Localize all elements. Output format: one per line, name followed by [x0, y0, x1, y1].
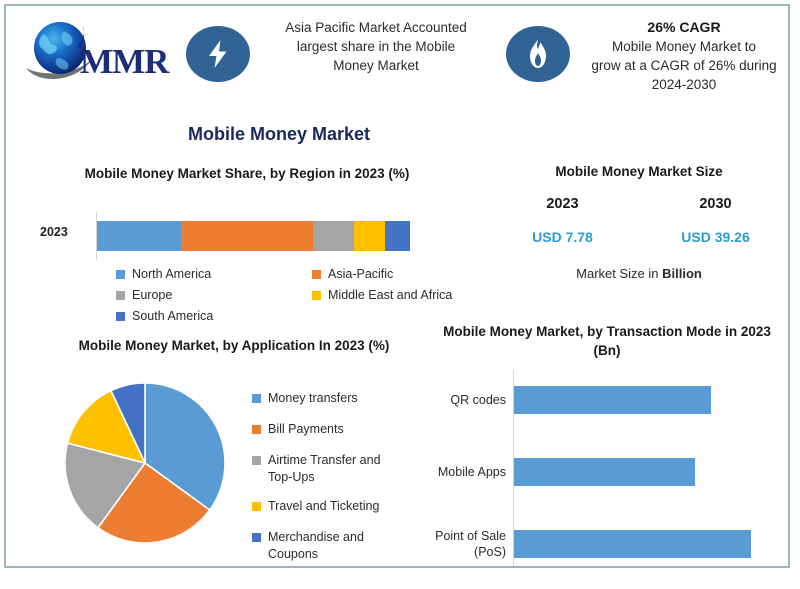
market-size-year-cell: 2023 — [486, 195, 639, 213]
market-size-value: USD 7.78 — [532, 229, 593, 245]
transaction-mode-label-line: QR codes — [426, 392, 506, 408]
legend-label: Asia-Pacific — [328, 264, 393, 285]
lightning-bolt-icon — [186, 26, 250, 82]
fact-line: grow at a CAGR of 26% during — [578, 56, 790, 75]
market-size-year: 2023 — [546, 196, 578, 212]
header-fact-asia-pacific: Asia Pacific Market Accounted largest sh… — [186, 18, 496, 102]
application-legend: Money transfersBill PaymentsAirtime Tran… — [252, 390, 442, 575]
header-fact-text: 26% CAGR Mobile Money Market to grow at … — [578, 18, 790, 94]
transaction-mode-label-line: Mobile Apps — [426, 464, 506, 480]
transaction-mode-label: QR codes — [426, 392, 506, 408]
legend-item: Bill Payments — [252, 421, 442, 438]
company-logo: MMR — [20, 14, 180, 92]
legend-item: Money transfers — [252, 390, 442, 407]
legend-label: Airtime Transfer andTop-Ups — [268, 452, 381, 486]
legend-item: North America — [116, 264, 312, 285]
legend-swatch — [252, 533, 261, 542]
legend-label: Money transfers — [268, 390, 358, 407]
market-size-footnote: Market Size in Billion — [486, 266, 792, 281]
legend-item: Merchandise andCoupons — [252, 529, 442, 563]
legend-label-line: Travel and Ticketing — [268, 498, 379, 515]
legend-row: EuropeMiddle East and Africa — [116, 285, 466, 306]
legend-item: South America — [116, 306, 312, 327]
legend-label: Europe — [132, 285, 172, 306]
legend-swatch — [252, 502, 261, 511]
flame-icon — [506, 26, 570, 82]
chart-title-transaction-mode: Mobile Money Market, by Transaction Mode… — [432, 322, 782, 360]
region-segment — [313, 221, 354, 251]
market-size-panel: Mobile Money Market Size 2023 2030 USD 7… — [486, 162, 792, 302]
fact-line: largest share in the Mobile — [258, 37, 494, 56]
region-segment — [97, 221, 182, 251]
header: MMR Asia Pacific Market Accounted larges… — [6, 6, 788, 112]
market-size-title: Mobile Money Market Size — [486, 162, 792, 181]
transaction-mode-plot: QR codesMobile AppsPoint of Sale(PoS) — [426, 370, 792, 566]
transaction-mode-label: Mobile Apps — [426, 464, 506, 480]
legend-item: Asia-Pacific — [312, 264, 393, 285]
transaction-mode-bar — [514, 458, 695, 486]
chart-title-region-share: Mobile Money Market Share, by Region in … — [52, 164, 442, 183]
legend-row: North AmericaAsia-Pacific — [116, 264, 466, 285]
transaction-mode-label-line: (PoS) — [426, 544, 506, 560]
region-stacked-bar — [97, 221, 410, 251]
market-size-years: 2023 2030 — [486, 195, 792, 213]
market-size-value: USD 39.26 — [681, 229, 749, 245]
legend-item: Travel and Ticketing — [252, 498, 442, 515]
market-size-footnote-prefix: Market Size in — [576, 266, 662, 281]
chart-transaction-mode: Mobile Money Market, by Transaction Mode… — [426, 322, 792, 570]
infographic-canvas: MMR Asia Pacific Market Accounted larges… — [4, 4, 790, 568]
header-fact-cagr: 26% CAGR Mobile Money Market to grow at … — [506, 18, 792, 102]
legend-swatch — [252, 394, 261, 403]
transaction-mode-row: Mobile Apps — [426, 450, 792, 494]
region-segment — [385, 221, 410, 251]
application-pie-chart — [60, 378, 230, 548]
transaction-mode-label-line: Point of Sale — [426, 528, 506, 544]
fact-line: 2024-2030 — [578, 75, 790, 94]
header-fact-text: Asia Pacific Market Accounted largest sh… — [258, 18, 494, 75]
fact-line: Mobile Money Market to — [578, 37, 790, 56]
legend-label-line: Bill Payments — [268, 421, 344, 438]
legend-label: Bill Payments — [268, 421, 344, 438]
market-size-year: 2030 — [699, 196, 731, 212]
legend-swatch — [252, 456, 261, 465]
legend-swatch — [116, 291, 125, 300]
market-size-footnote-unit: Billion — [662, 266, 702, 281]
legend-label-line: Airtime Transfer and — [268, 452, 381, 469]
chart-title-application-share: Mobile Money Market, by Application In 2… — [62, 336, 406, 355]
region-segment — [182, 221, 313, 251]
legend-label: South America — [132, 306, 213, 327]
legend-label-line: Top-Ups — [268, 469, 381, 486]
transaction-mode-row: QR codes — [426, 378, 792, 422]
legend-swatch — [116, 270, 125, 279]
legend-swatch — [312, 291, 321, 300]
legend-swatch — [312, 270, 321, 279]
logo-brand-text: MMR — [80, 42, 168, 82]
fact-line: Money Market — [258, 56, 494, 75]
legend-label-line: Merchandise and — [268, 529, 364, 546]
transaction-mode-row: Point of Sale(PoS) — [426, 522, 792, 566]
market-size-value-cell: USD 7.78 — [486, 229, 639, 247]
legend-swatch — [252, 425, 261, 434]
legend-item: Europe — [116, 285, 312, 306]
market-size-value-cell: USD 39.26 — [639, 229, 792, 247]
transaction-mode-bar — [514, 386, 711, 414]
market-size-values: USD 7.78 USD 39.26 — [486, 229, 792, 247]
region-segment — [354, 221, 385, 251]
legend-item: Airtime Transfer andTop-Ups — [252, 452, 442, 486]
legend-row: South America — [116, 306, 466, 327]
legend-label-line: Coupons — [268, 546, 364, 563]
page-title: Mobile Money Market — [6, 124, 788, 145]
fact-heading: 26% CAGR — [578, 18, 790, 37]
fact-line: Asia Pacific Market Accounted — [258, 18, 494, 37]
market-size-year-cell: 2030 — [639, 195, 792, 213]
transaction-mode-label: Point of Sale(PoS) — [426, 528, 506, 560]
legend-label-line: Money transfers — [268, 390, 358, 407]
legend-label: Merchandise andCoupons — [268, 529, 364, 563]
region-category-label: 2023 — [40, 225, 68, 239]
legend-item: Middle East and Africa — [312, 285, 452, 306]
legend-label: Travel and Ticketing — [268, 498, 379, 515]
legend-label: Middle East and Africa — [328, 285, 452, 306]
region-legend: North AmericaAsia-PacificEuropeMiddle Ea… — [116, 264, 466, 327]
legend-swatch — [116, 312, 125, 321]
region-share-plot: 2023 — [22, 212, 466, 260]
chart-application-share: Mobile Money Market, by Application In 2… — [22, 336, 442, 566]
chart-region-share: Mobile Money Market Share, by Region in … — [22, 164, 466, 324]
page-title-text: Mobile Money Market — [188, 124, 370, 145]
transaction-mode-bar — [514, 530, 751, 558]
legend-label: North America — [132, 264, 211, 285]
